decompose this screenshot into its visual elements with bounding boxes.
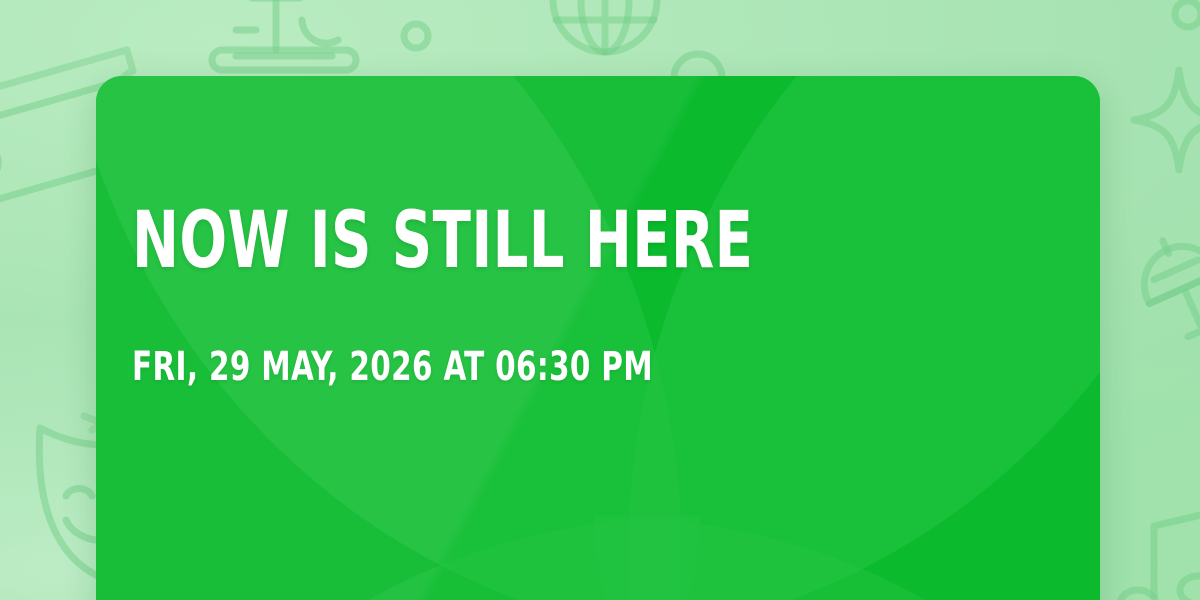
globe-icon	[540, 0, 670, 86]
sparkle-icon	[1124, 60, 1200, 180]
event-datetime: FRI, 29 MAY, 2026 AT 06:30 PM	[132, 347, 893, 387]
event-card[interactable]: NOW IS STILL HERE FRI, 29 MAY, 2026 AT 0…	[96, 76, 1100, 600]
music-note-icon	[1104, 500, 1200, 600]
leaf-shape-lower-left	[160, 516, 700, 600]
microphone-stand-icon	[176, 0, 376, 88]
circle-icon	[398, 18, 434, 54]
circle-icon	[1168, 0, 1200, 34]
event-text-block: NOW IS STILL HERE FRI, 29 MAY, 2026 AT 0…	[132, 204, 1060, 387]
event-banner: NOW IS STILL HERE FRI, 29 MAY, 2026 AT 0…	[0, 0, 1200, 600]
microphone-icon	[1128, 226, 1200, 386]
page-title: NOW IS STILL HERE	[132, 204, 874, 279]
leaf-shape-lower-right	[594, 516, 1100, 600]
